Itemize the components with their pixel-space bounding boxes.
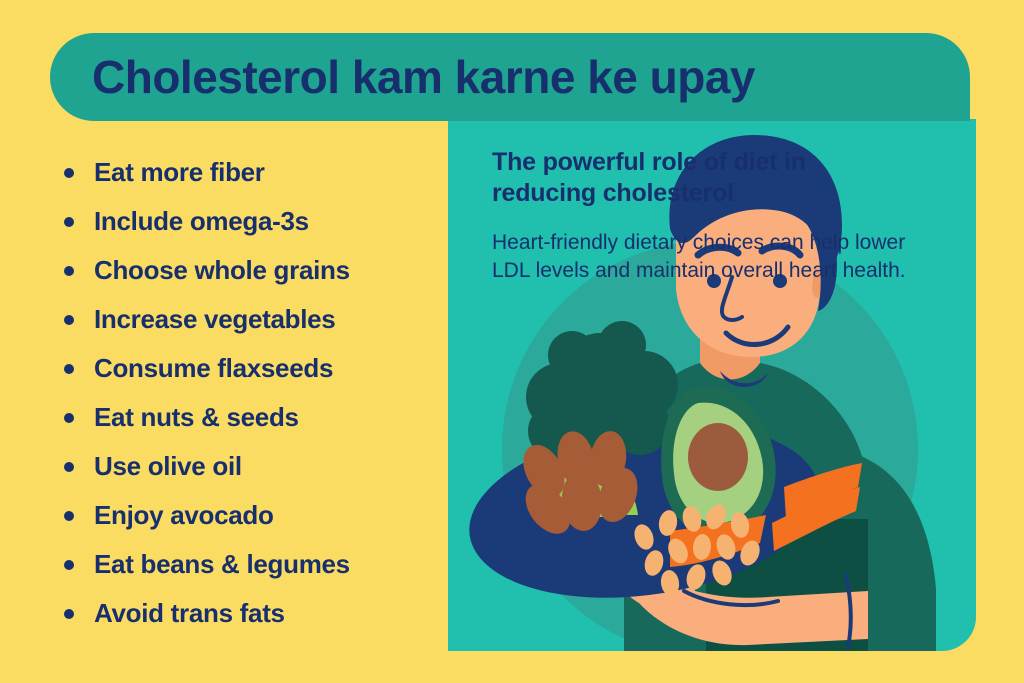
list-item: Avoid trans fats bbox=[56, 589, 436, 638]
list-item-label: Enjoy avocado bbox=[94, 500, 274, 530]
list-item-label: Eat more fiber bbox=[94, 157, 265, 187]
list-item: Eat beans & legumes bbox=[56, 540, 436, 589]
bullet-dot-icon bbox=[64, 511, 74, 521]
tips-list: Eat more fiber Include omega-3s Choose w… bbox=[56, 148, 436, 638]
list-item: Eat more fiber bbox=[56, 148, 436, 197]
list-item: Eat nuts & seeds bbox=[56, 393, 436, 442]
bullet-dot-icon bbox=[64, 609, 74, 619]
bullet-dot-icon bbox=[64, 560, 74, 570]
bullet-dot-icon bbox=[64, 364, 74, 374]
bullet-dot-icon bbox=[64, 168, 74, 178]
list-item: Increase vegetables bbox=[56, 295, 436, 344]
panel-heading: The powerful role of diet in reducing ch… bbox=[492, 147, 912, 208]
list-item-label: Avoid trans fats bbox=[94, 598, 285, 628]
bullet-dot-icon bbox=[64, 315, 74, 325]
list-item-label: Eat nuts & seeds bbox=[94, 402, 299, 432]
bullet-dot-icon bbox=[64, 217, 74, 227]
infographic-canvas: The powerful role of diet in reducing ch… bbox=[0, 0, 1024, 683]
bullet-dot-icon bbox=[64, 462, 74, 472]
panel-body-text: Heart-friendly dietary choices can help … bbox=[492, 229, 912, 285]
list-item: Include omega-3s bbox=[56, 197, 436, 246]
list-item: Enjoy avocado bbox=[56, 491, 436, 540]
list-item: Use olive oil bbox=[56, 442, 436, 491]
title-banner: Cholesterol kam karne ke upay bbox=[50, 33, 970, 121]
bullet-dot-icon bbox=[64, 266, 74, 276]
list-item-label: Choose whole grains bbox=[94, 255, 350, 285]
bullet-dot-icon bbox=[64, 413, 74, 423]
right-panel: The powerful role of diet in reducing ch… bbox=[448, 119, 976, 651]
page-title: Cholesterol kam karne ke upay bbox=[92, 50, 755, 104]
list-item-label: Include omega-3s bbox=[94, 206, 309, 236]
list-item-label: Increase vegetables bbox=[94, 304, 335, 334]
list-item-label: Eat beans & legumes bbox=[94, 549, 350, 579]
avocado-pit bbox=[688, 423, 748, 491]
list-item: Choose whole grains bbox=[56, 246, 436, 295]
list-item-label: Consume flaxseeds bbox=[94, 353, 333, 383]
list-item: Consume flaxseeds bbox=[56, 344, 436, 393]
list-item-label: Use olive oil bbox=[94, 451, 242, 481]
